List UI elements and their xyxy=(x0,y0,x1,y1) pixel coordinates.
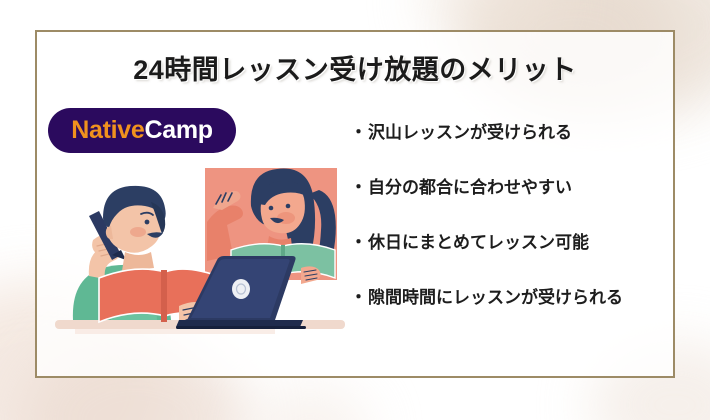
list-item: ・ 休日にまとめてレッスン可能 xyxy=(350,228,672,283)
list-item-label: 沢山レッスンが受けられる xyxy=(368,118,572,143)
page-title: 24時間レッスン受け放題のメリット xyxy=(0,48,710,87)
logo-wordmark: NativeCamp xyxy=(71,118,213,143)
list-item-label: 隙間時間にレッスンが受けられる xyxy=(368,283,623,308)
bullet-marker-icon: ・ xyxy=(350,283,367,308)
benefits-list: ・ 沢山レッスンが受けられる ・ 自分の都合に合わせやすい ・ 休日にまとめてレ… xyxy=(350,118,672,338)
list-item-label: 休日にまとめてレッスン可能 xyxy=(368,228,589,253)
online-lesson-illustration xyxy=(55,160,345,352)
slide-canvas: 24時間レッスン受け放題のメリット NativeCamp ・ 沢山レッスンが受け… xyxy=(0,0,710,420)
list-item: ・ 沢山レッスンが受けられる xyxy=(350,118,672,173)
watercolor-blob xyxy=(250,385,370,420)
list-item-label: 自分の都合に合わせやすい xyxy=(368,173,572,198)
bullet-marker-icon: ・ xyxy=(350,118,367,143)
list-item: ・ 自分の都合に合わせやすい xyxy=(350,173,672,228)
logo-text-camp: Camp xyxy=(144,116,212,144)
list-item: ・ 隙間時間にレッスンが受けられる xyxy=(350,283,672,338)
logo-text-native: Native xyxy=(71,116,144,144)
bullet-marker-icon: ・ xyxy=(350,173,367,198)
bullet-marker-icon: ・ xyxy=(350,228,367,253)
nativecamp-logo: NativeCamp xyxy=(48,108,236,153)
